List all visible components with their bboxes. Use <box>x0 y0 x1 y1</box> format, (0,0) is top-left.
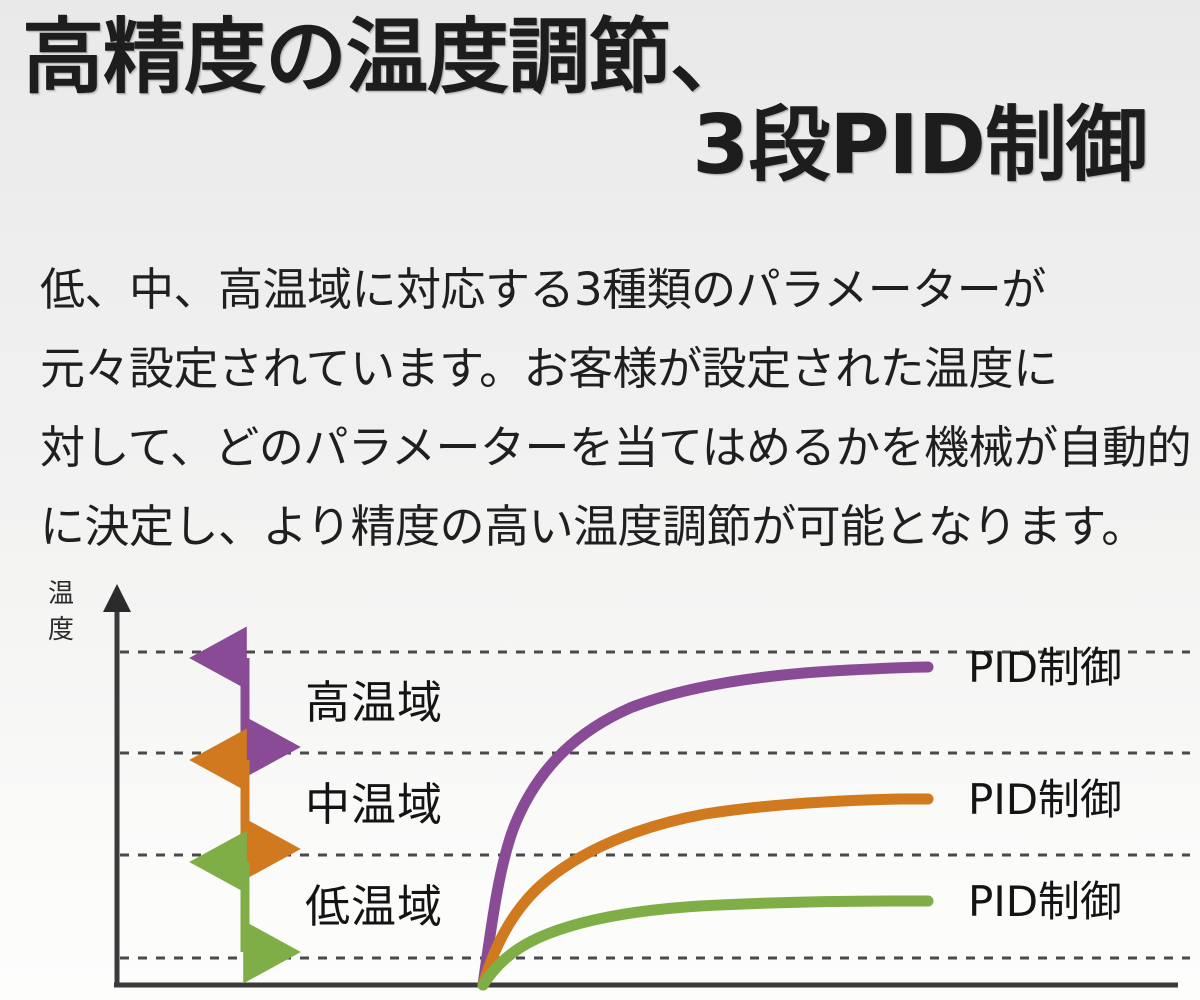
band-labels: 高温域 中温域 低温域 <box>305 676 443 933</box>
body-line-2: 元々設定されています。お客様が設定された温度に <box>40 329 1170 408</box>
legend-label-low: PID制御 <box>968 877 1122 926</box>
y-axis-caption-char-1: 温 <box>48 579 74 609</box>
y-axis-caption-char-2: 度 <box>48 615 74 645</box>
legend-label-high: PID制御 <box>968 643 1122 692</box>
band-label-high: 高温域 <box>305 676 443 729</box>
curve-low <box>483 901 928 985</box>
infographic-page: 高精度の温度調節、 3段PID制御 低、中、高温域に対応する3種類のパラメーター… <box>0 0 1200 1000</box>
body-line-1: 低、中、高温域に対応する3種類のパラメーターが <box>40 250 1170 329</box>
series-curves <box>483 667 928 985</box>
band-label-mid: 中温域 <box>305 778 443 831</box>
headline-line-1: 高精度の温度調節、 <box>22 14 1153 102</box>
headline-block: 高精度の温度調節、 3段PID制御 <box>0 14 1175 190</box>
body-line-3: 対して、どのパラメーターを当てはめるかを機械が自動的 <box>40 408 1170 487</box>
body-line-4: に決定し、より精度の高い温度調節が可能となります。 <box>40 487 1170 566</box>
band-label-low: 低温域 <box>305 880 443 933</box>
body-paragraph: 低、中、高温域に対応する3種類のパラメーターが 元々設定されています。お客様が設… <box>40 250 1170 566</box>
y-axis <box>103 584 131 986</box>
pid-control-chart: 温 度 <box>0 560 1200 1000</box>
legend: PID制御 PID制御 PID制御 <box>968 643 1122 926</box>
y-axis-caption: 温 度 <box>48 579 74 645</box>
legend-label-mid: PID制御 <box>968 775 1122 824</box>
headline-line-2: 3段PID制御 <box>22 102 1153 190</box>
